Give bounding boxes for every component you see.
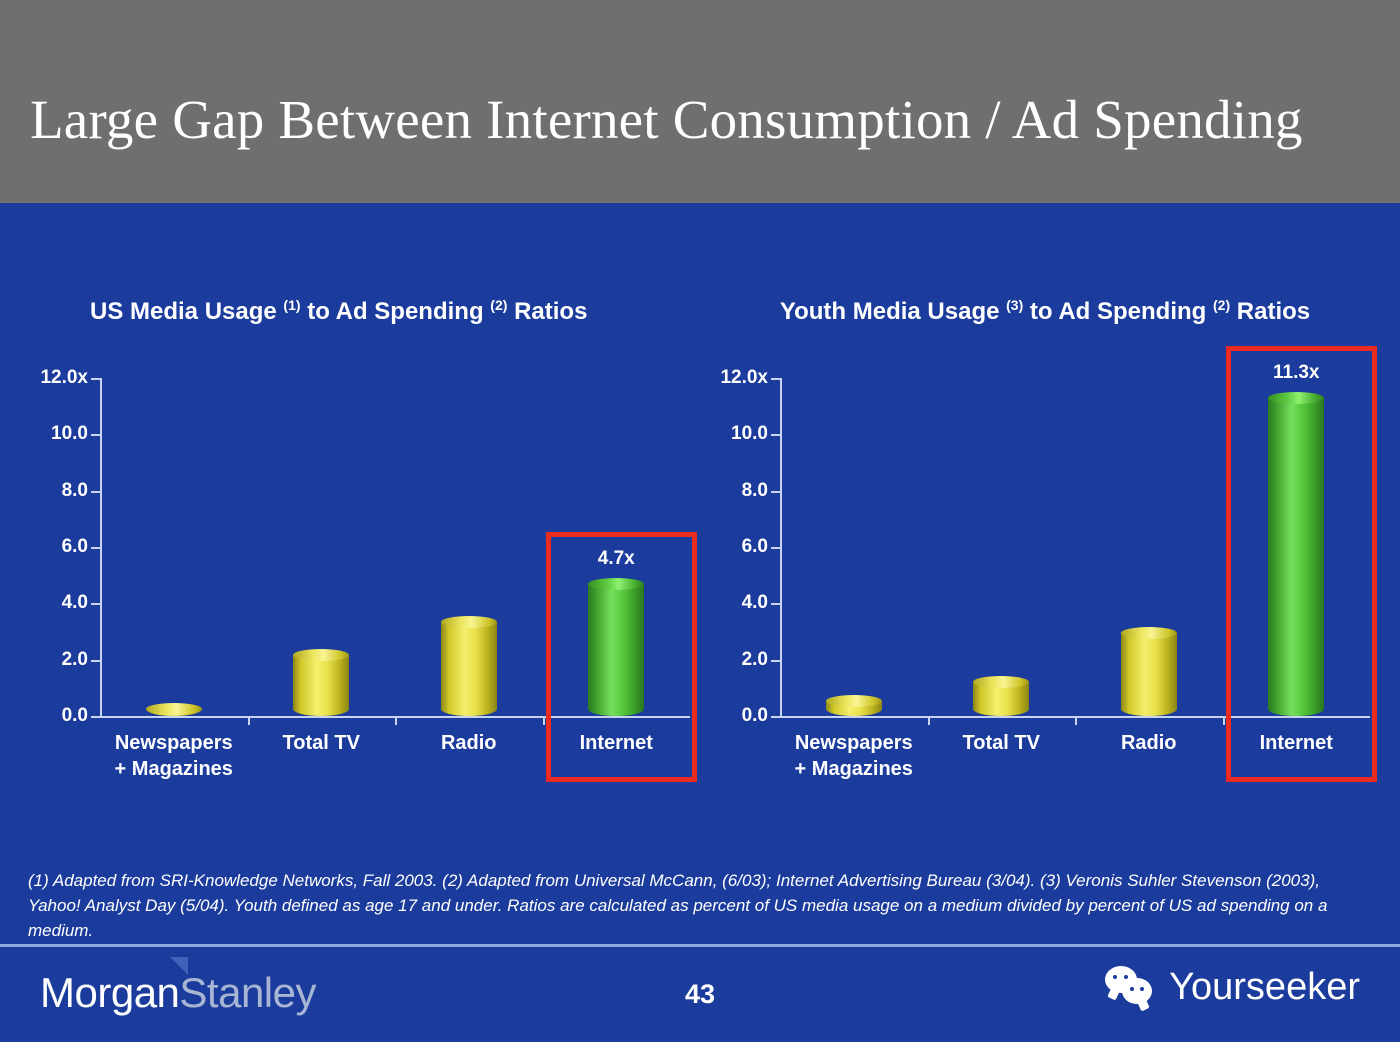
chart-title-text-c: Ratios xyxy=(1230,298,1310,325)
x-axis-tick xyxy=(1223,716,1225,725)
brand-name: Yourseeker xyxy=(1169,965,1360,1009)
wechat-icon xyxy=(1105,966,1157,1008)
footer: MorganStanley 43 Yourseeker xyxy=(0,947,1400,1042)
bar-radio xyxy=(1121,633,1177,716)
plot-area-us-media: 12.0x10.08.06.04.02.00.0Newspapers+ Maga… xyxy=(100,378,690,718)
y-axis-tick xyxy=(771,547,780,549)
y-axis-tick-label: 6.0 xyxy=(688,536,768,558)
bar-total-tv xyxy=(973,682,1029,716)
y-axis-tick-label: 12.0x xyxy=(688,367,768,389)
bar-internet xyxy=(1268,398,1324,716)
plot-area-youth-media: 12.0x10.08.06.04.02.00.0Newspapers+ Maga… xyxy=(780,378,1370,718)
bar-value-label: 11.3x xyxy=(1236,362,1356,384)
chart-title-text-b: to Ad Spending xyxy=(301,298,491,325)
x-axis-category-line: Newspapers xyxy=(769,730,939,756)
slide: Large Gap Between Internet Consumption /… xyxy=(0,0,1400,1042)
x-axis-category-line: Total TV xyxy=(236,730,406,756)
x-axis-category-label: Internet xyxy=(531,730,701,756)
y-axis-tick xyxy=(771,378,780,380)
morgan-stanley-mark-icon xyxy=(170,957,188,975)
footnote-text: (1) Adapted from SRI-Knowledge Networks,… xyxy=(28,868,1373,943)
y-axis-tick xyxy=(91,603,100,605)
y-axis-tick xyxy=(91,660,100,662)
x-axis-category-label: Radio xyxy=(1064,730,1234,756)
x-axis-category-label: Internet xyxy=(1211,730,1381,756)
y-axis-tick xyxy=(91,434,100,436)
y-axis-tick-label: 10.0 xyxy=(688,423,768,445)
page-title: Large Gap Between Internet Consumption /… xyxy=(30,90,1380,150)
footnote-ref-2: (2) xyxy=(1213,297,1230,313)
y-axis-tick xyxy=(771,716,780,718)
bar-radio xyxy=(441,622,497,716)
y-axis-tick xyxy=(91,491,100,493)
chart-panel-us-media: US Media Usage (1) to Ad Spending (2) Ra… xyxy=(20,270,710,830)
y-axis-tick xyxy=(91,716,100,718)
y-axis-tick xyxy=(771,434,780,436)
brand-watermark: Yourseeker xyxy=(1105,965,1360,1009)
x-axis-category-line: + Magazines xyxy=(89,756,259,782)
footnote-ref-3: (3) xyxy=(1006,297,1023,313)
y-axis-tick xyxy=(771,603,780,605)
chart-title-text-b: to Ad Spending xyxy=(1023,298,1213,325)
footnote-ref-1: (1) xyxy=(283,297,300,313)
y-axis-tick-label: 4.0 xyxy=(8,592,88,614)
bar-total-tv xyxy=(293,655,349,716)
y-axis-tick xyxy=(771,491,780,493)
x-axis-category-line: Internet xyxy=(531,730,701,756)
x-axis-category-line: Internet xyxy=(1211,730,1381,756)
chart-title-text-a: Youth Media Usage xyxy=(780,298,1006,325)
x-axis-tick xyxy=(395,716,397,725)
y-axis-tick-label: 8.0 xyxy=(688,480,768,502)
bar-internet xyxy=(588,584,644,716)
y-axis-tick-label: 4.0 xyxy=(688,592,768,614)
x-axis-tick xyxy=(248,716,250,725)
y-axis-tick xyxy=(771,660,780,662)
x-axis-category-line: Total TV xyxy=(916,730,1086,756)
x-axis-category-line: Radio xyxy=(1064,730,1234,756)
chart-title-text-c: Ratios xyxy=(507,298,587,325)
x-axis-category-line: Radio xyxy=(384,730,554,756)
chart-title-us-media: US Media Usage (1) to Ad Spending (2) Ra… xyxy=(20,288,690,329)
y-axis-tick-label: 10.0 xyxy=(8,423,88,445)
x-axis-category-line: Newspapers xyxy=(89,730,259,756)
x-axis-tick xyxy=(543,716,545,725)
y-axis-line xyxy=(780,378,782,718)
y-axis-line xyxy=(100,378,102,718)
x-axis-tick xyxy=(928,716,930,725)
footnote-ref-2: (2) xyxy=(490,297,507,313)
bar-value-label: 4.7x xyxy=(556,548,676,570)
x-axis-category-line: + Magazines xyxy=(769,756,939,782)
bar-newspapers-magazines xyxy=(146,709,202,716)
chart-panel-youth-media: Youth Media Usage (3) to Ad Spending (2)… xyxy=(700,270,1390,830)
y-axis-tick-label: 8.0 xyxy=(8,480,88,502)
chart-title-text-a: US Media Usage xyxy=(90,298,283,325)
x-axis-category-label: Total TV xyxy=(916,730,1086,756)
x-axis-category-label: Radio xyxy=(384,730,554,756)
y-axis-tick xyxy=(91,547,100,549)
y-axis-tick-label: 2.0 xyxy=(8,649,88,671)
x-axis-tick xyxy=(1075,716,1077,725)
y-axis-tick-label: 12.0x xyxy=(8,367,88,389)
y-axis-tick-label: 2.0 xyxy=(688,649,768,671)
y-axis-tick-label: 0.0 xyxy=(688,705,768,727)
y-axis-tick-label: 6.0 xyxy=(8,536,88,558)
x-axis-category-label: Newspapers+ Magazines xyxy=(89,730,259,782)
x-axis-category-label: Total TV xyxy=(236,730,406,756)
chart-title-youth-media: Youth Media Usage (3) to Ad Spending (2)… xyxy=(700,288,1390,329)
bar-newspapers-magazines xyxy=(826,701,882,716)
x-axis-category-label: Newspapers+ Magazines xyxy=(769,730,939,782)
y-axis-tick xyxy=(91,378,100,380)
y-axis-tick-label: 0.0 xyxy=(8,705,88,727)
